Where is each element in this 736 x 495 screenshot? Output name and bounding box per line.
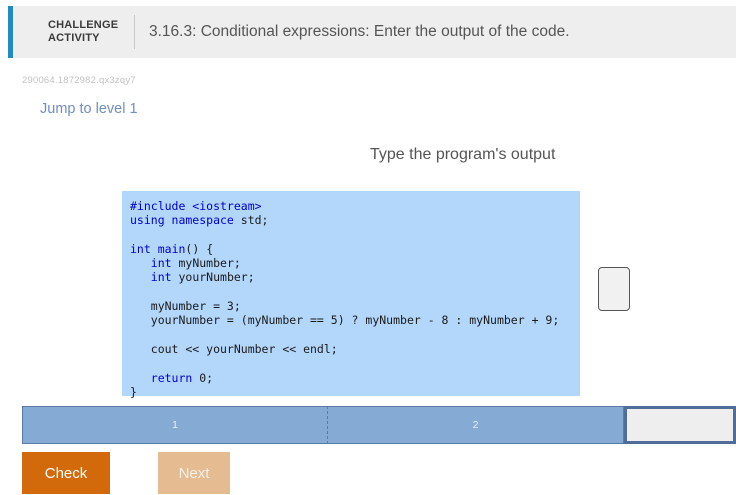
- code-token: #include <iostream>: [130, 199, 262, 213]
- activity-title: 3.16.3: Conditional expressions: Enter t…: [149, 23, 570, 41]
- next-button[interactable]: Next: [158, 452, 230, 494]
- activity-kicker-line2: ACTIVITY: [48, 32, 122, 45]
- code-token: () {: [185, 242, 213, 256]
- button-row: Check Next: [22, 452, 230, 494]
- code-token: int: [151, 270, 172, 284]
- header-divider: [134, 15, 135, 49]
- code-token: [130, 270, 151, 284]
- code-token: yourNumber = (myNumber == 5) ? myNumber …: [130, 313, 559, 327]
- code-token: std;: [234, 213, 269, 227]
- progress-segment-1[interactable]: 1: [22, 406, 327, 444]
- code-token: 0;: [192, 371, 213, 385]
- header-accent-bar: [8, 6, 13, 58]
- activity-kicker-line1: CHALLENGE: [48, 19, 122, 32]
- code-token: }: [130, 385, 137, 399]
- activity-content: 290064.1872982.qx3zqy7 Jump to level 1 T…: [0, 58, 736, 495]
- question-id-label: 290064.1872982.qx3zqy7: [22, 75, 136, 86]
- code-token: main: [158, 242, 186, 256]
- code-listing: #include <iostream> using namespace std;…: [130, 199, 580, 399]
- code-token: [151, 242, 158, 256]
- progress-segment-label: 2: [473, 419, 479, 431]
- progress-segment-3[interactable]: [624, 406, 736, 444]
- code-token: yourNumber;: [172, 270, 255, 284]
- code-token: [130, 256, 151, 270]
- code-token: return: [151, 371, 193, 385]
- progress-segment-label: 1: [172, 419, 178, 431]
- challenge-activity-header: CHALLENGE ACTIVITY 3.16.3: Conditional e…: [8, 6, 736, 58]
- code-token: int: [151, 256, 172, 270]
- code-token: myNumber;: [172, 256, 241, 270]
- code-token: using namespace: [130, 213, 234, 227]
- prompt-heading: Type the program's output: [370, 146, 555, 164]
- answer-input[interactable]: [598, 267, 630, 311]
- code-token: myNumber = 3;: [130, 299, 241, 313]
- jump-to-level-link[interactable]: Jump to level 1: [40, 101, 138, 117]
- code-block: #include <iostream> using namespace std;…: [122, 191, 580, 396]
- progress-bar: 12: [22, 406, 736, 444]
- progress-segment-2[interactable]: 2: [327, 406, 624, 444]
- code-token: cout << yourNumber << endl;: [130, 342, 338, 356]
- check-button[interactable]: Check: [22, 452, 110, 494]
- activity-kicker: CHALLENGE ACTIVITY: [48, 19, 122, 45]
- code-token: [130, 371, 151, 385]
- code-token: int: [130, 242, 151, 256]
